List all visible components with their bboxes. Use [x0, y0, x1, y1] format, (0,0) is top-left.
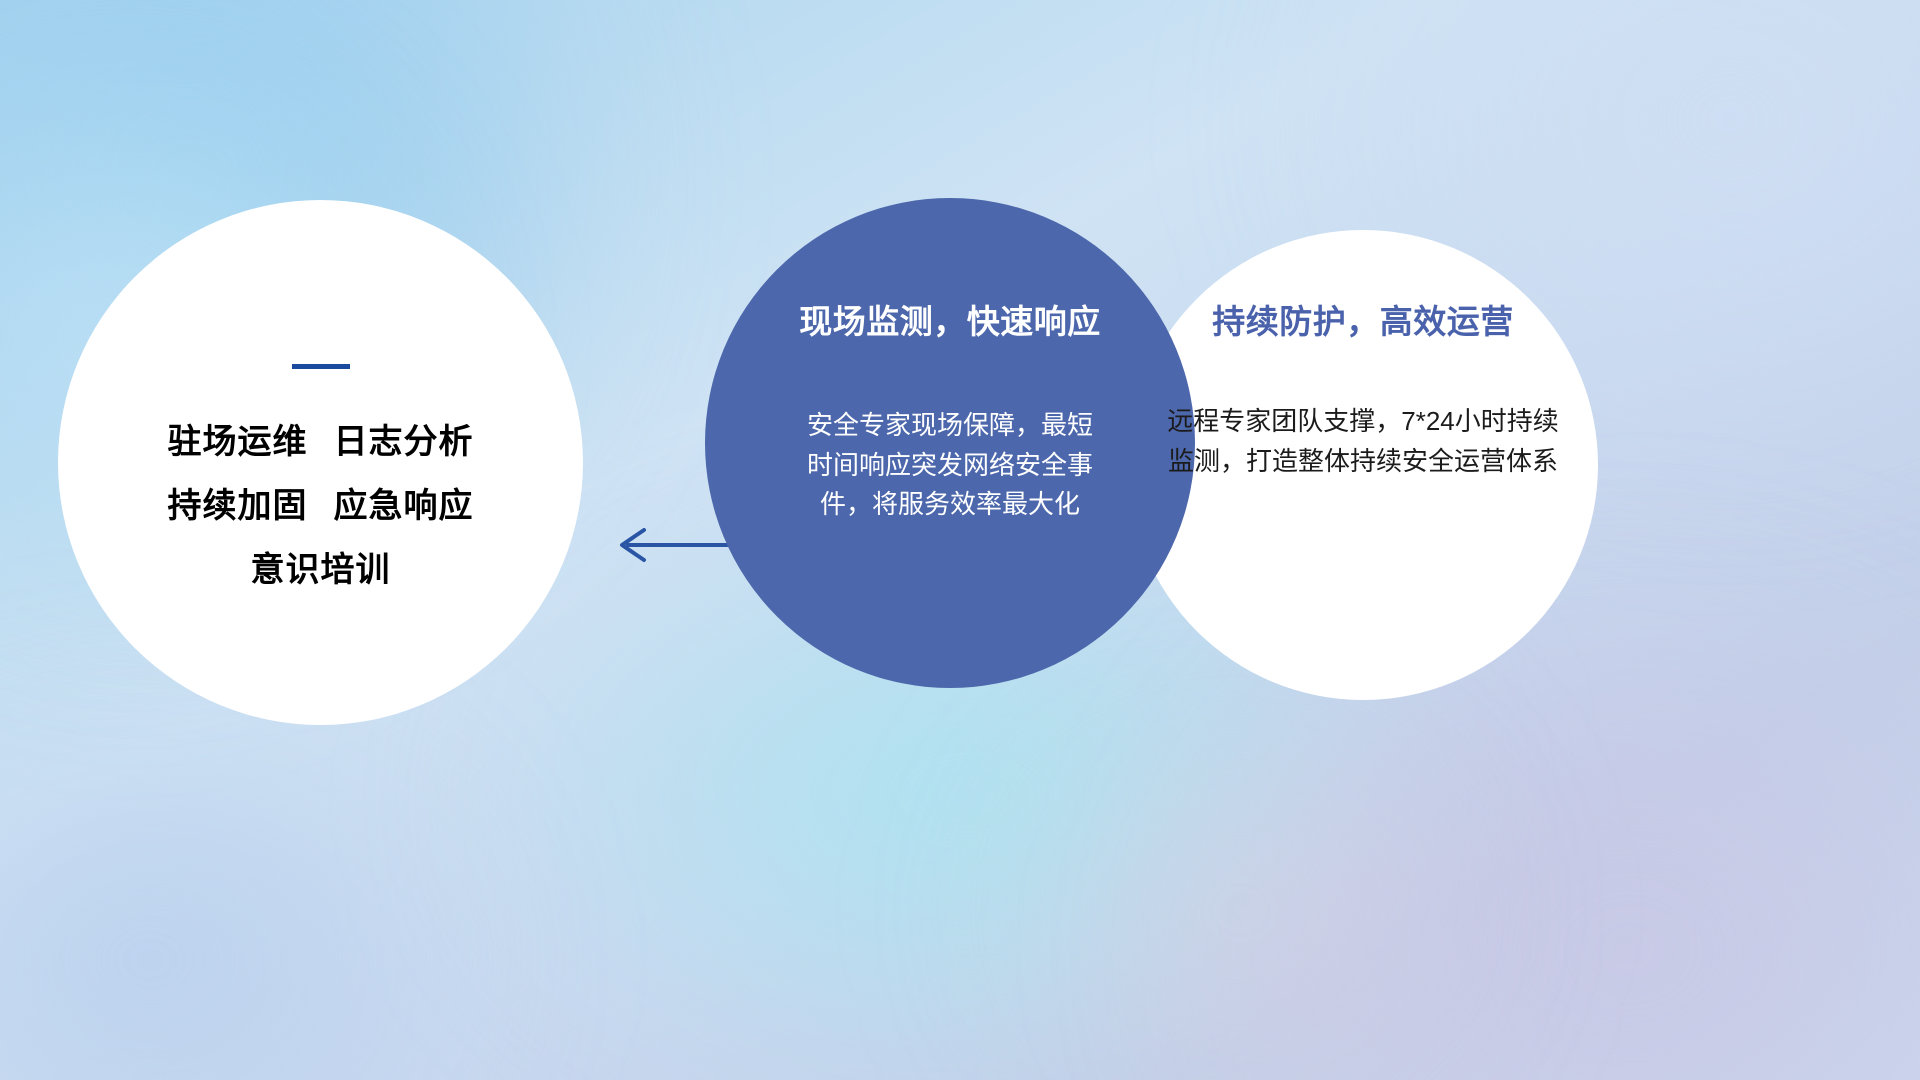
left-item-yishipeixun: 意识培训: [251, 551, 391, 589]
accent-dash: [292, 364, 350, 369]
left-circle-line-2: 持续加固应急响应: [168, 489, 474, 523]
left-circle-line-3: 意识培训: [251, 553, 391, 587]
slide-canvas: 驻场运维日志分析 持续加固应急响应 意识培训 现场监测，快速响应 安全专家现场保…: [0, 0, 1920, 1080]
right-circle-content: 持续防护，高效运营 远程专家团队支撑，7*24小时持续监测，打造整体持续安全运营…: [1128, 230, 1598, 700]
right-circle-title: 持续防护，高效运营: [1212, 304, 1514, 340]
right-circle-body: 远程专家团队支撑，7*24小时持续监测，打造整体持续安全运营体系: [1158, 402, 1568, 481]
left-circle-content: 驻场运维日志分析 持续加固应急响应 意识培训: [58, 200, 583, 725]
middle-circle-title: 现场监测，快速响应: [799, 304, 1101, 340]
left-item-yingjixiangying: 应急响应: [334, 487, 474, 525]
left-item-zhuchangyunwei: 驻场运维: [168, 423, 308, 461]
left-item-chixujiagu: 持续加固: [168, 487, 308, 525]
middle-circle-content: 现场监测，快速响应 安全专家现场保障，最短时间响应突发网络安全事件，将服务效率最…: [705, 198, 1195, 688]
left-item-rizhifenxi: 日志分析: [334, 423, 474, 461]
left-circle-line-1: 驻场运维日志分析: [168, 425, 474, 459]
middle-circle-body: 安全专家现场保障，最短时间响应突发网络安全事件，将服务效率最大化: [800, 406, 1100, 525]
